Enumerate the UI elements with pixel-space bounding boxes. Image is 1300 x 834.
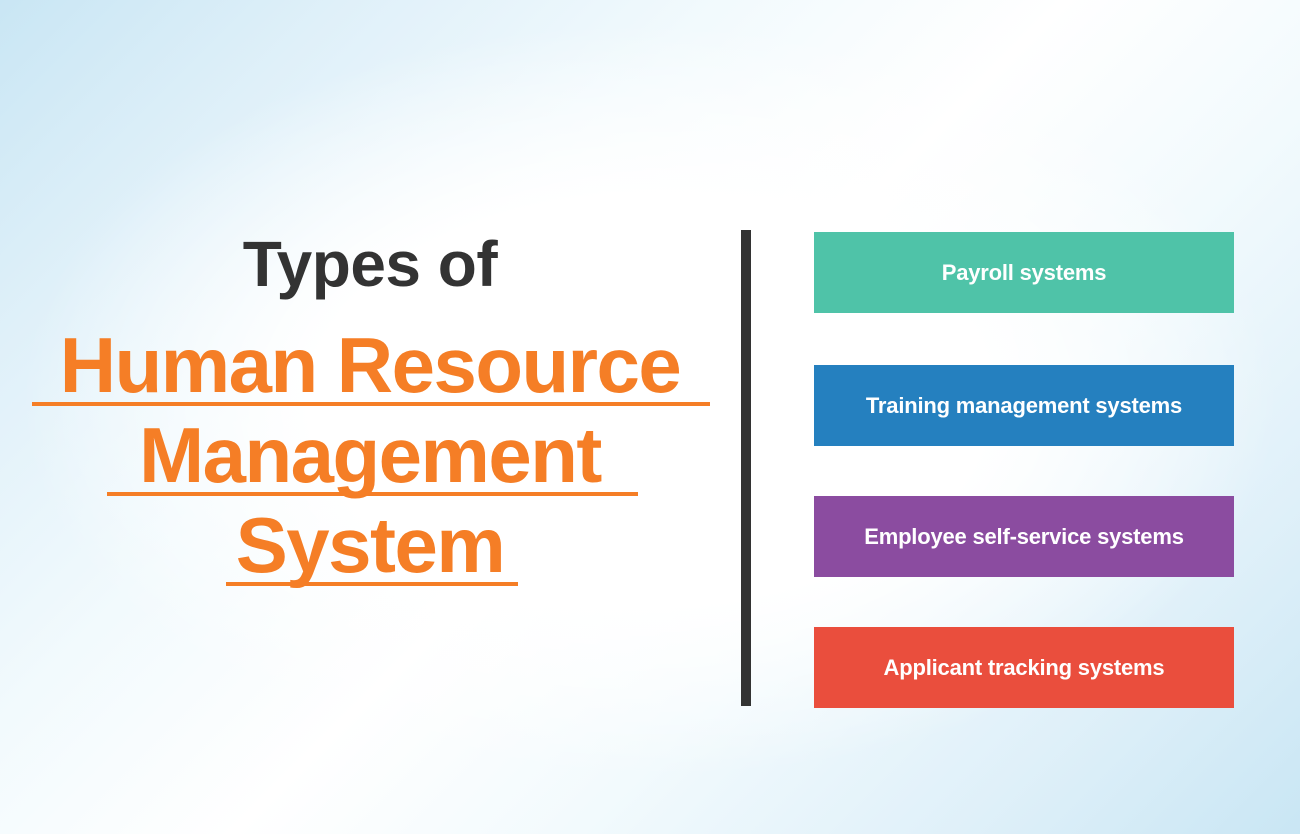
title-underline-3 — [226, 582, 518, 586]
title-underline-2 — [107, 492, 638, 496]
title-line-system: System — [0, 506, 740, 584]
card-label: Employee self-service systems — [864, 522, 1184, 552]
card-label: Applicant tracking systems — [884, 653, 1165, 683]
title-block: Types of Human Resource Management Syste… — [0, 226, 740, 606]
title-line-human-resource: Human Resource — [0, 326, 740, 404]
vertical-divider — [741, 230, 751, 706]
slide-canvas: Types of Human Resource Management Syste… — [0, 0, 1300, 834]
title-underline-1 — [32, 402, 710, 406]
card-applicant-tracking-systems[interactable]: Applicant tracking systems — [814, 627, 1234, 708]
title-line-management: Management — [0, 416, 740, 494]
card-payroll-systems[interactable]: Payroll systems — [814, 232, 1234, 313]
card-training-management-systems[interactable]: Training management systems — [814, 365, 1234, 446]
card-label: Training management systems — [866, 391, 1182, 421]
card-employee-self-service-systems[interactable]: Employee self-service systems — [814, 496, 1234, 577]
title-line-types-of: Types of — [0, 232, 740, 296]
card-list: Payroll systems Training management syst… — [814, 232, 1234, 708]
card-label: Payroll systems — [942, 258, 1107, 288]
